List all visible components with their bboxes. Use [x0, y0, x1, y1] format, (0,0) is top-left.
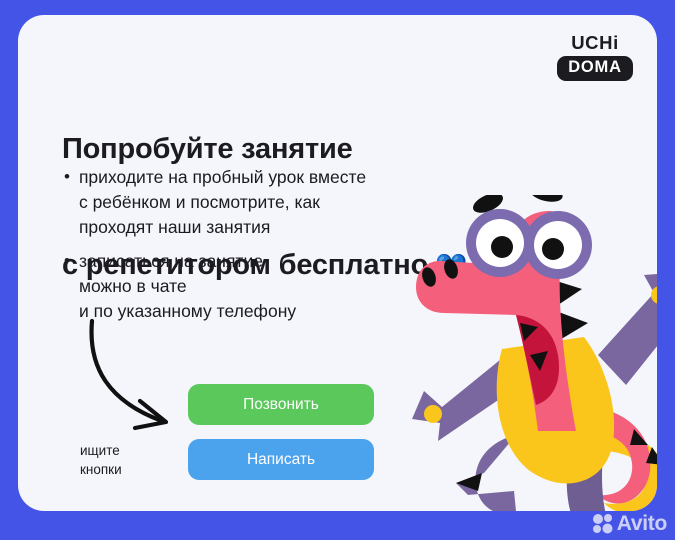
- mascot-eyebrows: [470, 195, 564, 217]
- avito-dots-icon: [592, 513, 613, 534]
- mascot-tail: [554, 405, 657, 511]
- headline-line-1: Попробуйте занятие: [62, 130, 467, 169]
- write-button-label: Написать: [247, 451, 315, 469]
- mascot-right-arm: [598, 273, 657, 385]
- brand-logo: UCHi DOMA: [557, 33, 633, 81]
- content-card: Попробуйте занятие с репетитором бесплат…: [18, 15, 657, 511]
- bullet-item: • записаться на занятие можно в чате и п…: [64, 249, 296, 324]
- poster-canvas: Попробуйте занятие с репетитором бесплат…: [0, 0, 675, 540]
- bullet-text: записаться на занятие можно в чате и по …: [79, 249, 296, 324]
- hint-text: ищите кнопки: [80, 442, 190, 480]
- write-button[interactable]: Написать: [188, 439, 374, 480]
- brand-logo-bottom-text: DOMA: [557, 56, 633, 80]
- mascot-glasses: [466, 209, 592, 279]
- call-button-label: Позвонить: [243, 396, 319, 414]
- avito-watermark-text: Avito: [617, 513, 667, 534]
- curved-arrow-icon: [78, 315, 198, 440]
- bullet-marker-icon: •: [64, 165, 70, 240]
- mascot-shirt: [497, 337, 614, 483]
- brand-logo-top-text: UCHi: [557, 33, 633, 53]
- bullet-marker-icon: •: [64, 249, 70, 324]
- call-button[interactable]: Позвонить: [188, 384, 374, 425]
- mascot-legs: [456, 435, 610, 511]
- bullet-text: приходите на пробный урок вместе с ребён…: [79, 165, 366, 240]
- mascot-spikes: [544, 247, 588, 341]
- blue-heart-icon: 💙: [435, 250, 467, 285]
- avito-watermark: Avito: [592, 513, 667, 534]
- bullet-item: • приходите на пробный урок вместе с реб…: [64, 165, 366, 240]
